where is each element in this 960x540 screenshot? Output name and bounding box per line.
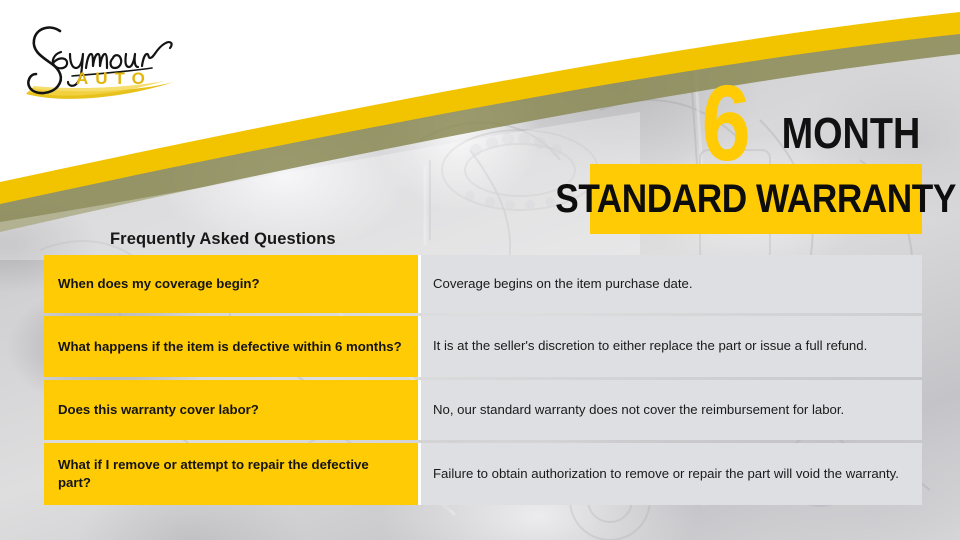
faq-question-text: What if I remove or attempt to repair th… bbox=[58, 456, 404, 492]
faq-question-text: When does my coverage begin? bbox=[58, 275, 260, 293]
warranty-slide: AUTO 6 MONTH STANDARD WARRANTY Frequentl… bbox=[0, 0, 960, 540]
faq-answer-cell: Coverage begins on the item purchase dat… bbox=[421, 255, 922, 313]
faq-heading: Frequently Asked Questions bbox=[110, 230, 336, 249]
warranty-duration-badge: 6 MONTH bbox=[590, 52, 922, 162]
faq-answer-text: It is at the seller's discretion to eith… bbox=[433, 337, 908, 356]
warranty-months-number: 6 bbox=[701, 80, 749, 166]
table-row: When does my coverage begin? Coverage be… bbox=[44, 255, 922, 313]
table-row: What if I remove or attempt to repair th… bbox=[44, 443, 922, 505]
standard-warranty-banner: STANDARD WARRANTY bbox=[590, 164, 922, 234]
faq-table: When does my coverage begin? Coverage be… bbox=[44, 255, 922, 505]
svg-text:AUTO: AUTO bbox=[76, 69, 152, 88]
table-row: Does this warranty cover labor? No, our … bbox=[44, 380, 922, 440]
seymour-auto-logo[interactable]: AUTO bbox=[14, 18, 194, 110]
faq-answer-text: Failure to obtain authorization to remov… bbox=[433, 465, 908, 484]
faq-question-text: Does this warranty cover labor? bbox=[58, 401, 259, 419]
faq-question-cell: What if I remove or attempt to repair th… bbox=[44, 443, 421, 505]
faq-question-cell: What happens if the item is defective wi… bbox=[44, 316, 421, 377]
warranty-period-label: MONTH bbox=[781, 112, 920, 156]
faq-question-text: What happens if the item is defective wi… bbox=[58, 338, 402, 356]
table-row: What happens if the item is defective wi… bbox=[44, 316, 922, 377]
faq-answer-cell: It is at the seller's discretion to eith… bbox=[421, 316, 922, 377]
faq-question-cell: Does this warranty cover labor? bbox=[44, 380, 421, 440]
faq-answer-cell: No, our standard warranty does not cover… bbox=[421, 380, 922, 440]
standard-warranty-label: STANDARD WARRANTY bbox=[556, 179, 957, 219]
faq-answer-cell: Failure to obtain authorization to remov… bbox=[421, 443, 922, 505]
faq-question-cell: When does my coverage begin? bbox=[44, 255, 421, 313]
faq-answer-text: No, our standard warranty does not cover… bbox=[433, 401, 908, 420]
faq-answer-text: Coverage begins on the item purchase dat… bbox=[433, 275, 908, 294]
